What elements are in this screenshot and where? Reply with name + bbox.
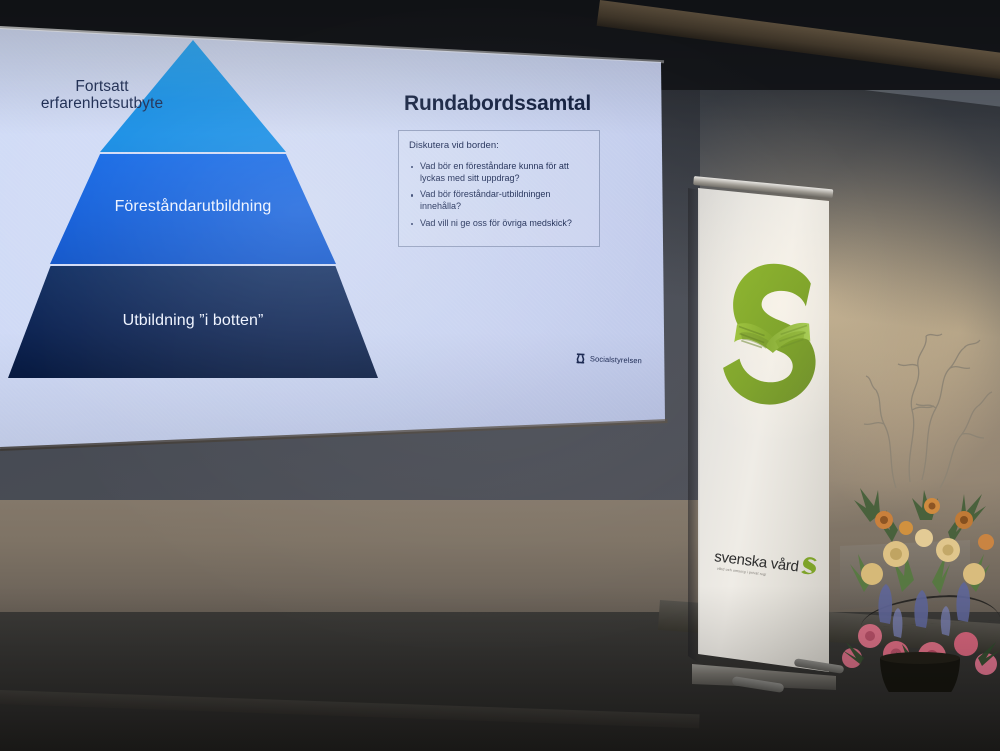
list-item: Vad bör en föreståndare kunna för att ly…: [420, 161, 589, 184]
projection-screen: Fortsatt erfarenhetsutbyte Föreståndarut…: [0, 0, 680, 460]
slide-right-column: Rundabordssamtal Diskutera vid borden: V…: [398, 92, 638, 247]
urn-vase: [872, 652, 968, 692]
socialstyrelsen-wordmark: Socialstyrelsen: [590, 354, 642, 365]
pyramid-label-middle: Föreståndarutbildning: [8, 198, 378, 216]
pyramid-label-top: Fortsatt erfarenhetsutbyte: [0, 78, 292, 113]
room-photo-scene: Fortsatt erfarenhetsutbyte Föreståndarut…: [0, 0, 1000, 751]
roll-up-banner: svenska vård vård och omsorg i privat re…: [688, 176, 836, 696]
banner-left-shadow: [688, 186, 700, 666]
discussion-intro: Diskutera vid borden:: [409, 140, 589, 151]
list-item: Vad vill ni ge oss för övriga medskick?: [420, 218, 589, 230]
banner-wordmark-block: svenska vård vård och omsorg i privat re…: [713, 543, 827, 583]
socialstyrelsen-logo: Socialstyrelsen: [574, 352, 642, 368]
pyramid-label-top-line2: erfarenhetsutbyte: [0, 95, 292, 112]
list-item: Vad bör föreståndar-utbildningen innehål…: [420, 189, 589, 212]
svenska-vard-clasping-hands-s-icon: [716, 246, 829, 450]
svenska-vard-s-mark-icon: [800, 554, 819, 576]
pyramid-label-top-line1: Fortsatt: [0, 78, 292, 95]
discussion-box: Diskutera vid borden: Vad bör en förestå…: [398, 130, 600, 247]
socialstyrelsen-emblem-icon: [574, 352, 587, 365]
flowers-and-twigs: [836, 292, 1000, 692]
pyramid-diagram: Fortsatt erfarenhetsutbyte Föreståndarut…: [8, 40, 378, 380]
slide-heading: Rundabordssamtal: [404, 92, 638, 116]
pyramid-label-bottom: Utbildning ”i botten”: [8, 312, 378, 330]
banner-face: svenska vård vård och omsorg i privat re…: [698, 184, 829, 672]
flower-arrangement: [836, 292, 1000, 692]
discussion-bullet-list: Vad bör en föreståndare kunna för att ly…: [409, 161, 589, 229]
